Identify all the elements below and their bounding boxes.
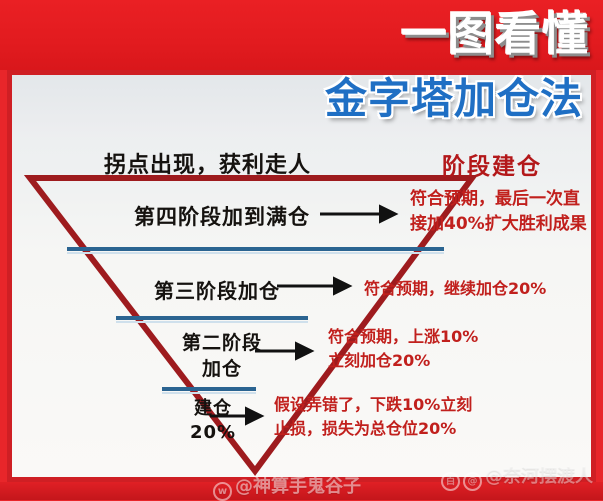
watermark-left: w@神算手鬼谷子 — [213, 472, 361, 501]
poster-root: 一图看懂 金字塔加仓法 拐点出现，获利走人 第四阶段加到满仓 — [0, 0, 603, 500]
annotation-note-2: 符合预期，上涨10%立刻加仓20% — [328, 325, 478, 373]
banner-title: 一图看懂 — [401, 8, 589, 60]
pyramid-stage-2-label: 第二阶段加仓 — [182, 330, 262, 382]
copyright-icon: @ — [463, 472, 482, 491]
baidu-icon: 百 — [441, 472, 460, 491]
watermark-right: 百@@奈河摆渡人 — [441, 462, 593, 491]
pyramid-stage-top-note: 拐点出现，获利走人 — [104, 147, 311, 179]
watermark-left-text: @神算手鬼谷子 — [235, 476, 361, 497]
annotation-note-3: 符合预期，继续加仓20% — [364, 275, 546, 299]
watermark-right-text: @奈河摆渡人 — [485, 466, 593, 487]
top-banner: 一图看懂 — [0, 0, 603, 70]
pyramid-stage-4-label: 第四阶段加到满仓 — [134, 201, 310, 231]
content-card: 金字塔加仓法 拐点出现，获利走人 第四阶段加到满仓 第三阶段加仓 第二阶段加仓 … — [7, 70, 596, 482]
pyramid-stage-3-label: 第三阶段加仓 — [154, 275, 280, 304]
annotation-note-4: 符合预期，最后一次直接加40%扩大胜利成果 — [410, 187, 587, 237]
annotations-heading: 阶段建仓 — [442, 147, 542, 181]
card-inner: 金字塔加仓法 拐点出现，获利走人 第四阶段加到满仓 第三阶段加仓 第二阶段加仓 … — [12, 75, 591, 477]
weibo-icon: w — [213, 482, 232, 501]
annotation-note-1: 假设弄错了，下跌10%立刻止损，损失为总仓位20% — [274, 393, 472, 441]
pyramid-stage-1-label: 建仓20% — [190, 397, 236, 445]
